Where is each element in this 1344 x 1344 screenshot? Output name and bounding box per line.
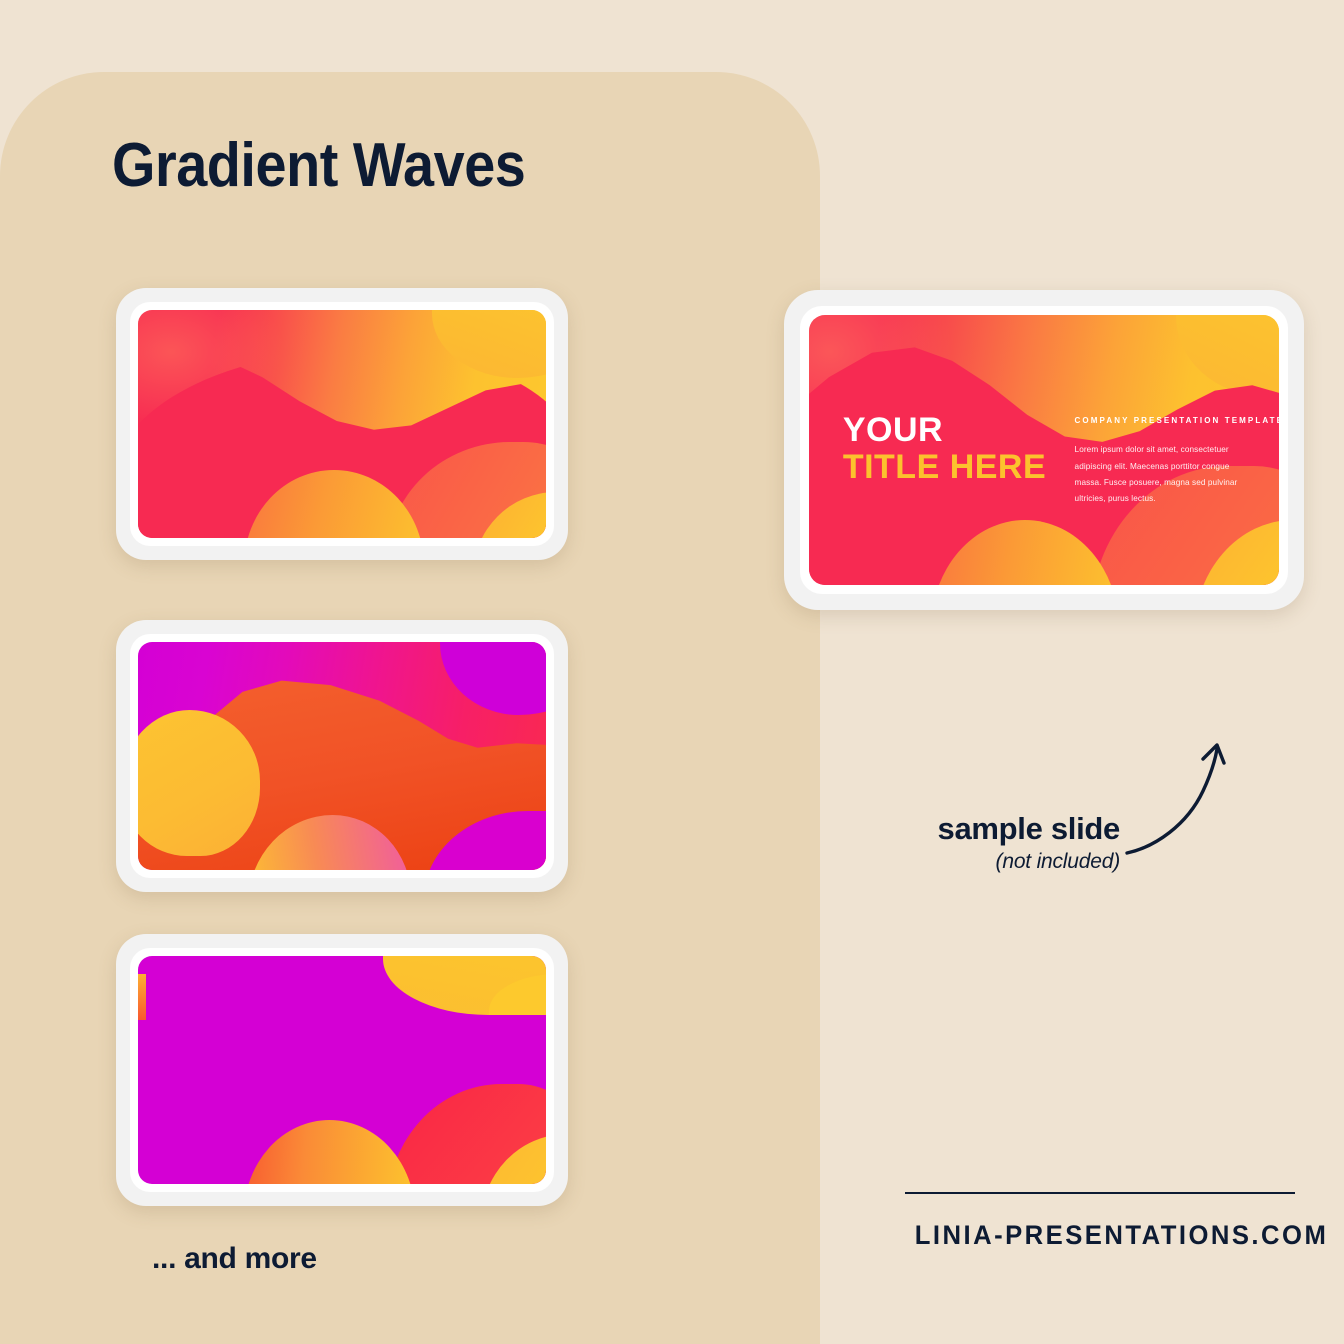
sample-slide-preview[interactable]: YOUR TITLE HERE COMPANY PRESENTATION TEM… [784,290,1304,610]
footer-divider [905,1192,1295,1194]
page-title: Gradient Waves [112,130,525,201]
slide-frame-inner [130,948,554,1192]
slide-thumbnail-3[interactable] [116,934,568,1206]
slide-thumbnail-2[interactable] [116,620,568,892]
sample-slide-title-block: YOUR TITLE HERE [843,412,1046,485]
slide-artwork-1 [138,310,546,538]
sample-slide-title-line-2: TITLE HERE [843,449,1046,486]
slide-frame-inner [130,302,554,546]
slide-artwork-3 [138,956,546,1184]
sample-slide-annotation-note: (not included) [905,850,1120,874]
sample-slide-annotation-label: sample slide [905,812,1120,846]
footer-website-url: LINIA-PRESENTATIONS.COM [915,1220,1286,1251]
slide-frame-inner [130,634,554,878]
sample-slide-title-line-1: YOUR [843,412,1046,449]
and-more-label: ... and more [152,1242,317,1276]
sample-slide-artwork: YOUR TITLE HERE COMPANY PRESENTATION TEM… [809,315,1279,585]
curved-arrow-up-right-icon [1125,735,1245,865]
sample-slide-annotation: sample slide (not included) [905,812,1120,874]
sample-slide-paragraph: Lorem ipsum dolor sit amet, consectetuer… [1075,442,1244,508]
sample-slide-body-block: COMPANY PRESENTATION TEMPLATE Lorem ipsu… [1075,416,1244,508]
slide-thumbnail-1[interactable] [116,288,568,560]
sample-slide-eyebrow: COMPANY PRESENTATION TEMPLATE [1075,416,1244,425]
slide-artwork-2 [138,642,546,870]
slide3-left-edge-sliver [138,974,146,1020]
slide-frame-inner: YOUR TITLE HERE COMPANY PRESENTATION TEM… [800,306,1288,594]
